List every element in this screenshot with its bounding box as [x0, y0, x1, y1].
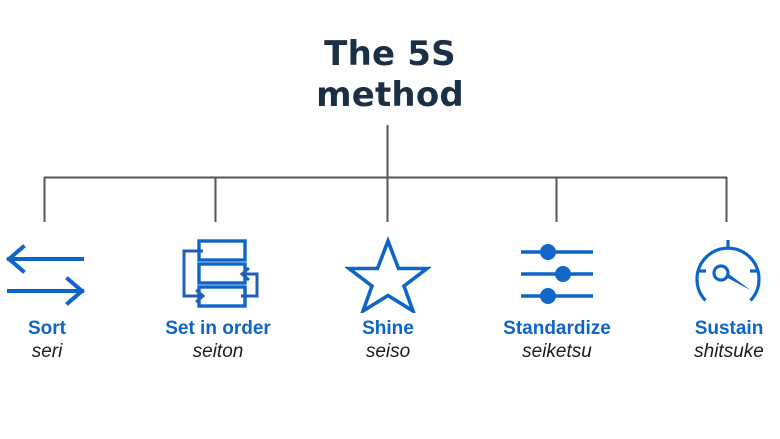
step-sustain[interactable]: Sustain shitsuke: [644, 232, 780, 364]
step-romaji-shine: seiso: [303, 340, 473, 364]
step-label-sort: Sort: [0, 318, 132, 340]
sliders-icon: [472, 232, 642, 316]
step-label-sustain: Sustain: [644, 318, 780, 340]
step-romaji-sort: seri: [0, 340, 132, 364]
step-label-standardize: Standardize: [472, 318, 642, 340]
step-sort[interactable]: Sort seri: [0, 232, 132, 364]
steps-row: Sort seri: [0, 232, 780, 402]
stacked-boxes-cycle-icon: [133, 232, 303, 316]
star-icon: [303, 232, 473, 316]
diagram-canvas: The 5S method: [0, 0, 780, 439]
two-arrows-icon: [0, 232, 132, 316]
gauge-icon: [644, 232, 780, 316]
step-set-in-order[interactable]: Set in order seiton: [133, 232, 303, 364]
page-title-line-2: method: [0, 75, 780, 116]
step-label-shine: Shine: [303, 318, 473, 340]
step-romaji-set-in-order: seiton: [133, 340, 303, 364]
step-romaji-standardize: seiketsu: [472, 340, 642, 364]
page-title-line-1: The 5S: [0, 34, 780, 75]
step-shine[interactable]: Shine seiso: [303, 232, 473, 364]
page-title: The 5S method: [0, 34, 780, 117]
step-standardize[interactable]: Standardize seiketsu: [472, 232, 642, 364]
step-romaji-sustain: shitsuke: [644, 340, 780, 364]
step-label-set-in-order: Set in order: [133, 318, 303, 340]
